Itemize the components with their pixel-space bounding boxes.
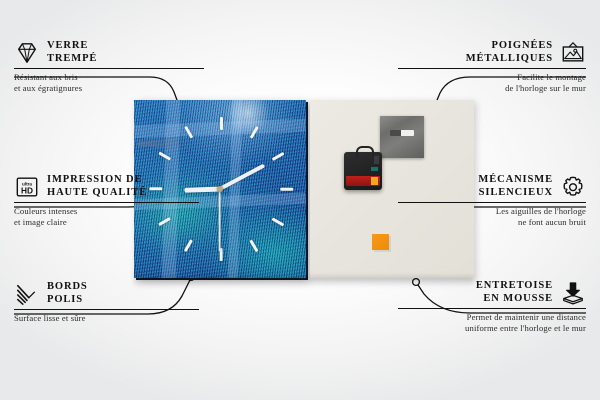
callout-title-line1: BORDS	[47, 281, 88, 294]
callout-title-line1: VERRE	[47, 40, 97, 53]
callout-title-line1: POIGNÉES	[466, 40, 553, 53]
clock-tick	[220, 117, 223, 130]
callout-subtitle-line2: de l'horloge sur le mur	[398, 83, 586, 94]
clock-tick	[184, 239, 193, 252]
clock-tick	[250, 239, 259, 252]
callout-rule	[398, 308, 586, 309]
mechanism-switch	[374, 156, 379, 164]
clock-tick	[280, 188, 293, 191]
gear-icon	[560, 175, 586, 199]
callout-rule	[398, 68, 586, 69]
battery-terminal	[371, 177, 378, 185]
callout-subtitle-line2: ne font aucun bruit	[398, 217, 586, 228]
callout-rule	[14, 309, 199, 310]
battery	[346, 176, 380, 186]
callout-title-line2: MÉTALLIQUES	[466, 53, 553, 66]
diamond-icon	[14, 41, 40, 65]
clock-tick	[184, 126, 193, 139]
callout-impression-haute-qualite: ultra HD IMPRESSION DE HAUTE QUALITÉ Cou…	[14, 174, 199, 228]
ultra-hd-icon: ultra HD	[14, 175, 40, 199]
svg-text:HD: HD	[21, 185, 33, 195]
foam-spacer-arrow-icon	[560, 281, 586, 305]
callout-title-line2: EN MOUSSE	[476, 293, 553, 306]
callout-subtitle-line2: et aux égratignures	[14, 83, 204, 94]
clock-tick	[250, 126, 259, 139]
clock-tick	[272, 152, 285, 161]
callout-mecanisme-silencieux: MÉCANISME SILENCIEUX Les aiguilles de l'…	[398, 174, 586, 228]
callout-subtitle-line1: Les aiguilles de l'horloge	[398, 206, 586, 217]
callout-subtitle-line1: Couleurs intenses	[14, 206, 199, 217]
callout-title-line2: SILENCIEUX	[478, 187, 553, 200]
mechanism-label	[371, 167, 378, 171]
callout-subtitle-line1: Surface lisse et sûre	[14, 313, 199, 324]
foam-spacer	[372, 234, 389, 250]
callout-title-line2: TREMPÉ	[47, 53, 97, 66]
callout-entretoise-en-mousse: ENTRETOISE EN MOUSSE Permet de maintenir…	[398, 280, 586, 334]
clock-tick	[158, 152, 171, 161]
hanger-slot	[390, 130, 414, 136]
callout-rule	[398, 202, 586, 203]
clock-minute-hand	[219, 164, 265, 191]
callout-poignees-metalliques: POIGNÉES MÉTALLIQUES Facilite le montage…	[398, 40, 586, 94]
callout-subtitle-line2: et image claire	[14, 217, 199, 228]
callout-verre-trempe: VERRE TREMPÉ Résistant aux bris et aux é…	[14, 40, 204, 94]
picture-frame-hanger-icon	[560, 41, 586, 65]
clock-mechanism	[344, 152, 382, 190]
callout-rule	[14, 68, 204, 69]
infographic-canvas: VERRE TREMPÉ Résistant aux bris et aux é…	[0, 0, 600, 400]
callout-title-line2: POLIS	[47, 294, 88, 307]
callout-subtitle-line2: uniforme entre l'horloge et le mur	[398, 323, 586, 334]
callout-subtitle-line1: Résistant aux bris	[14, 72, 204, 83]
clock-second-hand	[219, 189, 221, 251]
callout-title-line2: HAUTE QUALITÉ	[47, 187, 147, 200]
mechanism-hook	[356, 146, 374, 157]
callout-subtitle-line1: Facilite le montage	[398, 72, 586, 83]
polished-edges-icon	[14, 282, 40, 306]
callout-title-line1: MÉCANISME	[478, 174, 553, 187]
callout-title-line1: ENTRETOISE	[476, 280, 553, 293]
callout-title-line1: IMPRESSION DE	[47, 174, 147, 187]
callout-rule	[14, 202, 199, 203]
metal-hanger-plate	[380, 116, 424, 158]
clock-center-cap	[217, 186, 223, 192]
clock-tick	[272, 217, 285, 226]
callout-subtitle-line1: Permet de maintenir une distance	[398, 312, 586, 323]
callout-bords-polis: BORDS POLIS Surface lisse et sûre	[14, 281, 199, 324]
